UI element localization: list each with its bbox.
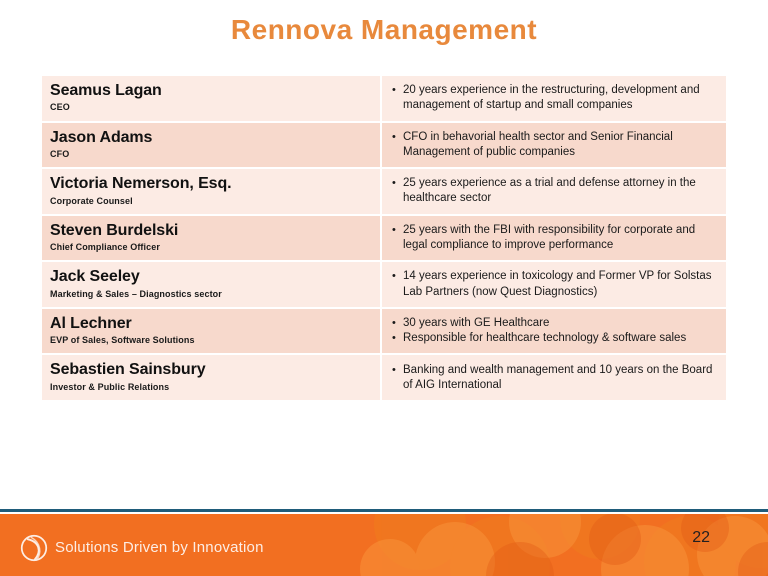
person-name: Steven Burdelski	[50, 222, 372, 240]
bullet-text: 20 years experience in the restructuring…	[403, 83, 718, 114]
bullet-item: •25 years experience as a trial and defe…	[392, 176, 718, 207]
person-role: CEO	[50, 102, 372, 112]
bullet-dot-icon: •	[392, 331, 403, 346]
person-name: Seamus Lagan	[50, 82, 372, 100]
bullets-cell: •Banking and wealth management and 10 ye…	[382, 355, 726, 400]
table-row: Al LechnerEVP of Sales, Software Solutio…	[42, 309, 726, 356]
bullet-item: •30 years with GE Healthcare	[392, 316, 718, 331]
person-name: Jason Adams	[50, 129, 372, 147]
table-row: Jack SeeleyMarketing & Sales – Diagnosti…	[42, 262, 726, 309]
bullet-dot-icon: •	[392, 363, 403, 378]
bullets-cell: •25 years with the FBI with responsibili…	[382, 216, 726, 261]
person-role: Corporate Counsel	[50, 196, 372, 206]
bullet-dot-icon: •	[392, 130, 403, 145]
person-cell: Jason AdamsCFO	[42, 123, 382, 168]
footer-tagline: Solutions Driven by Innovation	[55, 539, 264, 556]
bullet-dot-icon: •	[392, 316, 403, 331]
bullet-item: •Banking and wealth management and 10 ye…	[392, 363, 718, 394]
person-name: Jack Seeley	[50, 268, 372, 286]
person-role: CFO	[50, 149, 372, 159]
person-cell: Seamus LaganCEO	[42, 76, 382, 121]
table-row: Seamus LaganCEO•20 years experience in t…	[42, 76, 726, 123]
bullets-cell: •25 years experience as a trial and defe…	[382, 169, 726, 214]
person-cell: Jack SeeleyMarketing & Sales – Diagnosti…	[42, 262, 382, 307]
bullet-dot-icon: •	[392, 269, 403, 284]
bullets-cell: •20 years experience in the restructurin…	[382, 76, 726, 121]
table-row: Steven BurdelskiChief Compliance Officer…	[42, 216, 726, 263]
bullets-cell: •CFO in behavorial health sector and Sen…	[382, 123, 726, 168]
bullet-text: Banking and wealth management and 10 yea…	[403, 363, 718, 394]
bullet-text: 25 years experience as a trial and defen…	[403, 176, 718, 207]
bullet-item: •20 years experience in the restructurin…	[392, 83, 718, 114]
bullet-text: 25 years with the FBI with responsibilit…	[403, 223, 718, 254]
person-name: Sebastien Sainsbury	[50, 361, 372, 379]
table-row: Victoria Nemerson, Esq.Corporate Counsel…	[42, 169, 726, 216]
table-row: Jason AdamsCFO•CFO in behavorial health …	[42, 123, 726, 170]
person-role: Investor & Public Relations	[50, 382, 372, 392]
bullets-cell: •14 years experience in toxicology and F…	[382, 262, 726, 307]
bullet-text: 14 years experience in toxicology and Fo…	[403, 269, 718, 300]
person-role: Chief Compliance Officer	[50, 242, 372, 252]
person-role: EVP of Sales, Software Solutions	[50, 335, 372, 345]
bullet-dot-icon: •	[392, 83, 403, 98]
page-number: 22	[692, 529, 710, 547]
bullets-cell: •30 years with GE Healthcare•Responsible…	[382, 309, 726, 354]
table-row: Sebastien SainsburyInvestor & Public Rel…	[42, 355, 726, 400]
management-table: Seamus LaganCEO•20 years experience in t…	[42, 76, 726, 400]
bullet-text: Responsible for healthcare technology & …	[403, 331, 718, 346]
bullet-text: 30 years with GE Healthcare	[403, 316, 718, 331]
person-cell: Victoria Nemerson, Esq.Corporate Counsel	[42, 169, 382, 214]
person-cell: Al LechnerEVP of Sales, Software Solutio…	[42, 309, 382, 354]
page-title: Rennova Management	[0, 14, 768, 46]
bullet-dot-icon: •	[392, 223, 403, 238]
person-cell: Steven BurdelskiChief Compliance Officer	[42, 216, 382, 261]
bullet-item: •14 years experience in toxicology and F…	[392, 269, 718, 300]
bullet-item: •Responsible for healthcare technology &…	[392, 331, 718, 346]
rennova-swoosh-logo	[20, 534, 48, 562]
person-role: Marketing & Sales – Diagnostics sector	[50, 289, 372, 299]
person-cell: Sebastien SainsburyInvestor & Public Rel…	[42, 355, 382, 400]
person-name: Victoria Nemerson, Esq.	[50, 175, 372, 193]
bullet-item: •CFO in behavorial health sector and Sen…	[392, 130, 718, 161]
bullet-item: •25 years with the FBI with responsibili…	[392, 223, 718, 254]
bullet-text: CFO in behavorial health sector and Seni…	[403, 130, 718, 161]
person-name: Al Lechner	[50, 315, 372, 333]
bullet-dot-icon: •	[392, 176, 403, 191]
